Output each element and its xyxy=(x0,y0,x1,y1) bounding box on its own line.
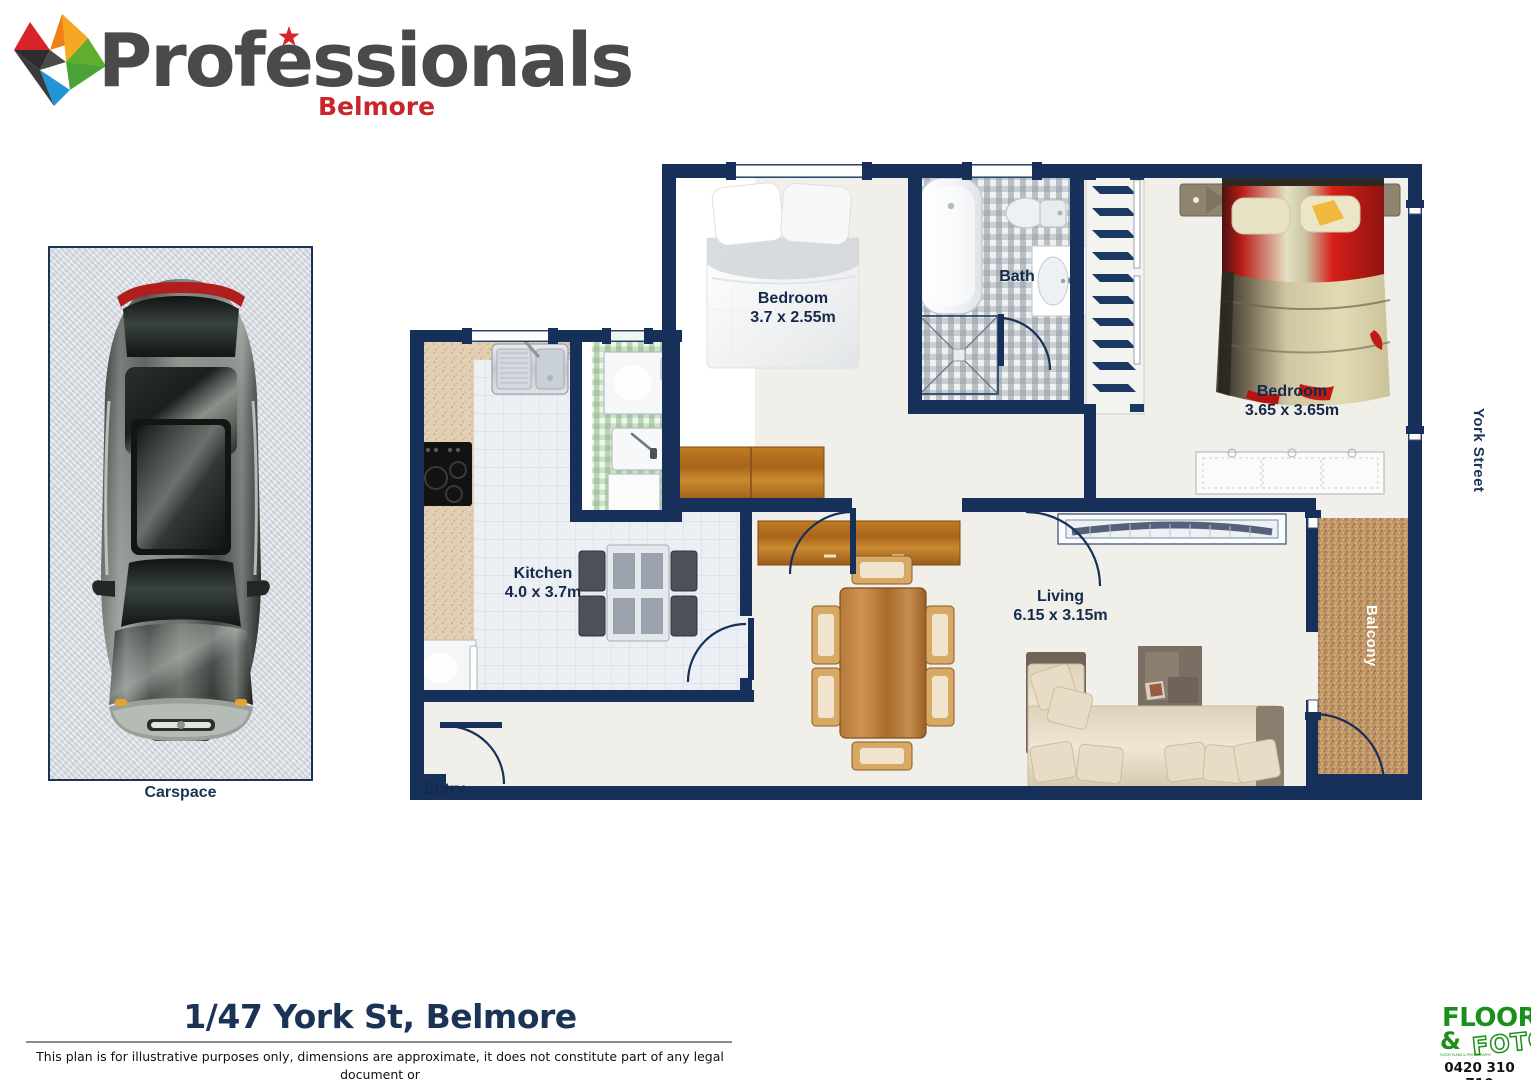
page-title: 1/47 York St, Belmore xyxy=(0,997,760,1036)
wardrobe-icon xyxy=(1086,172,1144,414)
disclaimer-text: This plan is for illustrative purposes o… xyxy=(22,1048,738,1080)
divider xyxy=(26,1041,732,1043)
room-label-balcony: Balcony xyxy=(1363,605,1380,667)
washing-machine-icon xyxy=(604,352,666,414)
room-label-entry-clip: Entry xyxy=(424,782,514,794)
producer-ampersand: & xyxy=(1440,1027,1461,1055)
cooktop-icon xyxy=(420,442,472,506)
street-label-york-street: York Street xyxy=(1470,408,1487,492)
floorplan-page: Professionals Belmore xyxy=(0,0,1531,1080)
bathtub-icon xyxy=(920,178,982,314)
bed-icon xyxy=(1216,176,1390,406)
room-label-entry: Entry xyxy=(424,782,465,794)
producer-tagline: FLOOR PLANS & PHOTOGRAPHY xyxy=(1440,1053,1491,1057)
disclaimer-line-1: This plan is for illustrative purposes o… xyxy=(36,1049,724,1080)
fridge-icon xyxy=(418,640,477,698)
producer-phone: 0420 310 710 xyxy=(1428,1060,1531,1080)
kitchen-sink-icon xyxy=(492,340,568,394)
shower-icon xyxy=(920,316,998,394)
toilet-icon xyxy=(1006,198,1066,228)
bed-icon xyxy=(707,182,859,368)
timber-console-icon xyxy=(678,447,824,502)
floorplan-drawing xyxy=(0,0,1531,1080)
tv-unit-icon xyxy=(1196,449,1384,494)
coffee-table-icon xyxy=(1138,646,1202,708)
floor-and-foto-logo: FLOOR & FOTO FLOOR PLANS & PHOTOGRAPHY 0… xyxy=(1420,1003,1531,1080)
